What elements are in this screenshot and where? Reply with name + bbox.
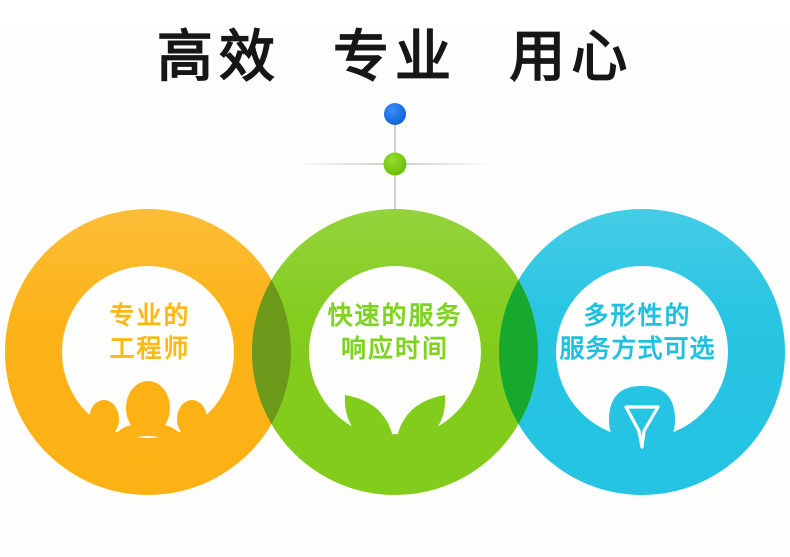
poster-canvas: 高效 专业 用心 xyxy=(0,0,790,557)
blue-dot-icon xyxy=(384,103,406,125)
green-dot-icon xyxy=(384,153,407,176)
venn-diagram xyxy=(0,200,790,510)
connector-ornament xyxy=(0,0,790,230)
